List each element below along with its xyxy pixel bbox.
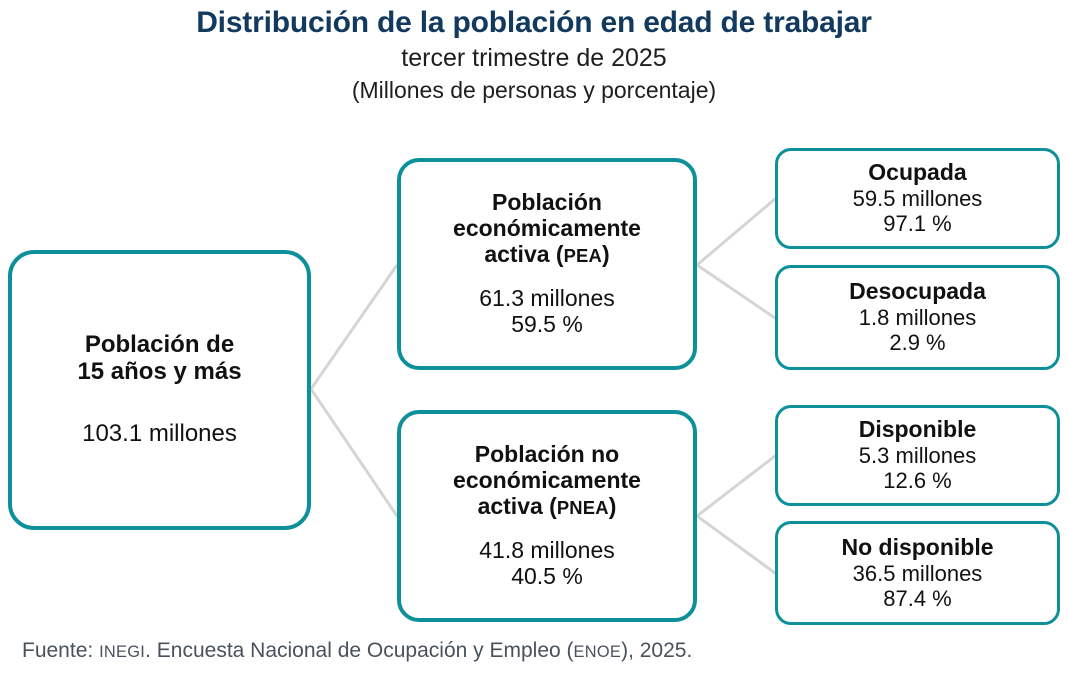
connector-pnea-to-disponible — [697, 456, 775, 516]
node-values: 103.1 millones — [82, 420, 237, 448]
node-value-millions: 59.5 millones — [853, 186, 983, 211]
source-middle: . Encuesta Nacional de Ocupación y Emple… — [145, 639, 573, 662]
node-title-line2: 15 años y más — [77, 359, 241, 386]
node-disponible[interactable]: Disponible 5.3 millones 12.6 % — [775, 405, 1060, 506]
node-values: 36.5 millones 87.4 % — [853, 561, 983, 612]
node-abbreviation: PNEA — [557, 497, 609, 518]
node-ocupada[interactable]: Ocupada 59.5 millones 97.1 % — [775, 148, 1060, 249]
node-value-percent: 40.5 % — [479, 563, 615, 589]
node-desocupada[interactable]: Desocupada 1.8 millones 2.9 % — [775, 265, 1060, 370]
node-values: 1.8 millones 2.9 % — [859, 305, 976, 356]
node-title-line3: activa (PEA) — [453, 242, 641, 268]
source-suffix: ), 2025. — [621, 639, 692, 662]
node-values: 5.3 millones 12.6 % — [859, 443, 976, 494]
node-abbr-open: ( — [556, 241, 564, 267]
node-abbr-close: ) — [609, 493, 617, 519]
connector-pnea-to-nodisponible — [697, 516, 775, 573]
node-title: Ocupada — [868, 160, 966, 186]
node-title: Disponible — [859, 417, 977, 443]
node-title: No disponible — [841, 535, 993, 561]
node-value-millions: 1.8 millones — [859, 305, 976, 330]
node-title-line2: económicamente — [453, 468, 641, 494]
infographic-page: Distribución de la población en edad de … — [0, 0, 1068, 675]
node-title: Desocupada — [849, 279, 986, 305]
node-title-word: activa — [484, 241, 549, 267]
node-value-millions: 41.8 millones — [479, 537, 615, 563]
node-title-line1: Población no — [453, 442, 641, 468]
connector-root-to-pnea — [311, 389, 397, 516]
connector-root-to-pea — [311, 265, 397, 389]
node-value-millions: 61.3 millones — [479, 285, 615, 311]
node-value-percent: 87.4 % — [853, 586, 983, 611]
source-survey-abbr: ENOE — [574, 643, 622, 661]
connector-pea-to-ocupada — [697, 199, 775, 265]
node-abbr-open: ( — [549, 493, 557, 519]
node-title-word: activa — [478, 493, 543, 519]
node-value-percent: 97.1 % — [853, 211, 983, 236]
node-title: Población económicamente activa (PEA) — [453, 190, 641, 267]
node-title-line3: activa (PNEA) — [453, 494, 641, 520]
source-note: Fuente: INEGI. Encuesta Nacional de Ocup… — [22, 639, 692, 663]
node-value-percent: 2.9 % — [859, 330, 976, 355]
node-poblacion-no-economicamente-activa[interactable]: Población no económicamente activa (PNEA… — [397, 410, 697, 622]
node-abbr-close: ) — [602, 241, 610, 267]
node-value-millions: 103.1 millones — [82, 420, 237, 448]
source-prefix: Fuente: — [22, 639, 99, 662]
node-poblacion-15-y-mas[interactable]: Población de 15 años y más 103.1 millone… — [8, 250, 311, 530]
node-title-line1: Población de — [77, 332, 241, 359]
node-abbreviation: PEA — [564, 245, 602, 266]
tree-diagram: Población de 15 años y más 103.1 millone… — [0, 0, 1068, 675]
node-title: Población no económicamente activa (PNEA… — [453, 442, 641, 519]
node-title: Población de 15 años y más — [77, 332, 241, 386]
node-poblacion-economicamente-activa[interactable]: Población económicamente activa (PEA) 61… — [397, 158, 697, 370]
node-values: 59.5 millones 97.1 % — [853, 186, 983, 237]
node-values: 61.3 millones 59.5 % — [479, 285, 615, 338]
node-value-millions: 36.5 millones — [853, 561, 983, 586]
node-value-percent: 12.6 % — [859, 468, 976, 493]
node-value-millions: 5.3 millones — [859, 443, 976, 468]
node-values: 41.8 millones 40.5 % — [479, 537, 615, 590]
node-value-percent: 59.5 % — [479, 311, 615, 337]
connector-pea-to-desocupada — [697, 265, 775, 318]
node-no-disponible[interactable]: No disponible 36.5 millones 87.4 % — [775, 521, 1060, 625]
node-title-line1: Población — [453, 190, 641, 216]
source-organization: INEGI — [99, 643, 145, 661]
node-title-line2: económicamente — [453, 216, 641, 242]
